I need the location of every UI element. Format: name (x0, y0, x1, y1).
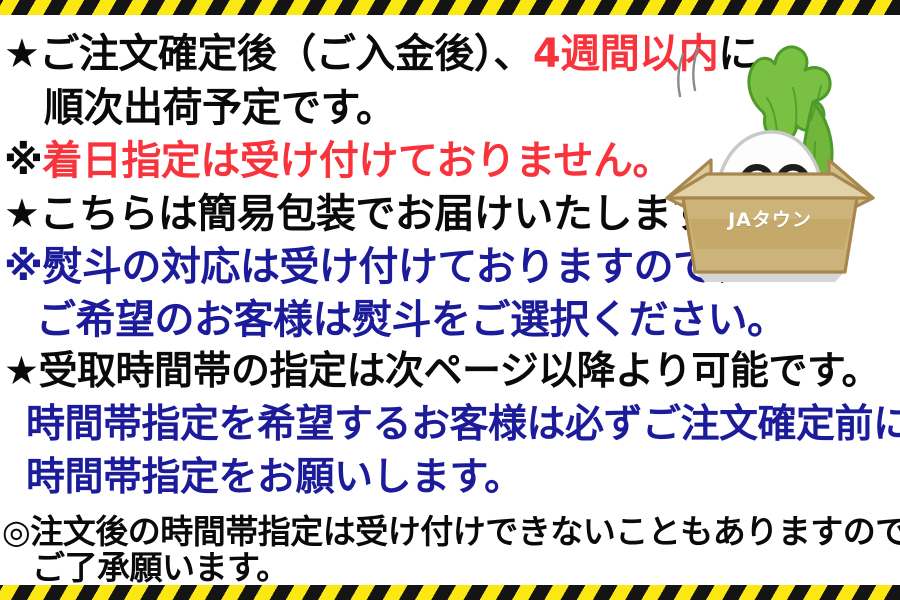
notice-line-2: 順次出荷予定です。 (44, 75, 396, 133)
notice-line-7: ★受取時間帯の指定は次ページ以降より可能です。 (4, 340, 880, 396)
cardboard-box (667, 160, 873, 282)
notice-line-8: 時間帯指定を希望するお客様は必ずご注文確定前に (26, 393, 900, 449)
daikon-mascot-illustration: JAタウン (645, 42, 895, 297)
notice-line-5: ※熨斗の対応は受け付けておりますので、 (4, 234, 751, 292)
hazard-stripe-top (0, 0, 900, 15)
notice-line-11: ご了承願います。 (32, 541, 289, 589)
notice-line-1-part-a: ★ご注文確定後（ご入金後）、 (4, 31, 533, 77)
motion-lines-icon (678, 48, 698, 96)
hazard-stripe-bottom (0, 585, 900, 600)
notice-line-3-text: 着日指定は受け付けておりません。 (42, 138, 672, 184)
kome-mark-icon: ※ (4, 138, 42, 184)
notice-banner: ★ご注文確定後（ご入金後）、4週間以内に 順次出荷予定です。 ※着日指定は受け付… (0, 0, 900, 600)
notice-line-3: ※着日指定は受け付けておりません。 (4, 128, 672, 186)
notice-line-4: ★こちらは簡易包装でお届けいたします。 (4, 181, 746, 239)
notice-line-9: 時間帯指定をお願いします。 (26, 446, 523, 502)
